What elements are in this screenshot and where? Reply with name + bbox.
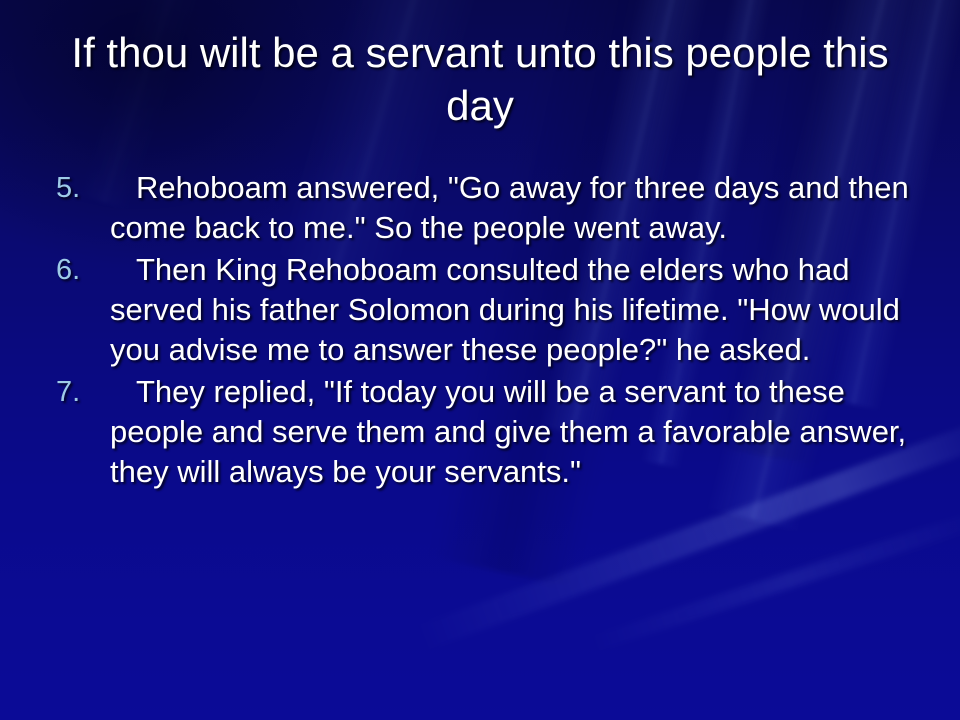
slide-content: If thou wilt be a servant unto this peop…: [0, 0, 960, 720]
slide-title: If thou wilt be a servant unto this peop…: [60, 26, 900, 132]
list-item: 7. They replied, "If today you will be a…: [48, 372, 912, 492]
list-item: 5. Rehoboam answered, "Go away for three…: [48, 168, 912, 248]
list-item-marker: 5.: [56, 168, 102, 208]
presentation-slide: If thou wilt be a servant unto this peop…: [0, 0, 960, 720]
list-item-text: Then King Rehoboam consulted the elders …: [110, 250, 912, 370]
list-item-marker: 6.: [56, 250, 102, 290]
list-item-text: They replied, "If today you will be a se…: [110, 372, 912, 492]
list-item: 6. Then King Rehoboam consulted the elde…: [48, 250, 912, 370]
list-item-marker: 7.: [56, 372, 102, 412]
slide-body-list: 5. Rehoboam answered, "Go away for three…: [48, 168, 912, 494]
list-item-text: Rehoboam answered, "Go away for three da…: [110, 168, 912, 248]
